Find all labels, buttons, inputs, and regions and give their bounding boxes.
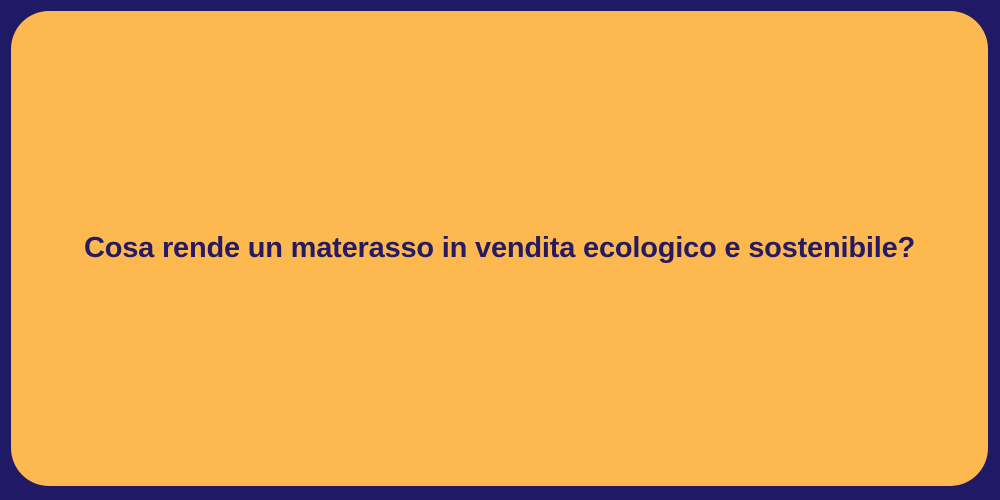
banner-frame: Cosa rende un materasso in vendita ecolo… <box>0 0 1000 500</box>
banner-heading: Cosa rende un materasso in vendita ecolo… <box>56 230 943 266</box>
banner-panel: Cosa rende un materasso in vendita ecolo… <box>11 11 988 486</box>
